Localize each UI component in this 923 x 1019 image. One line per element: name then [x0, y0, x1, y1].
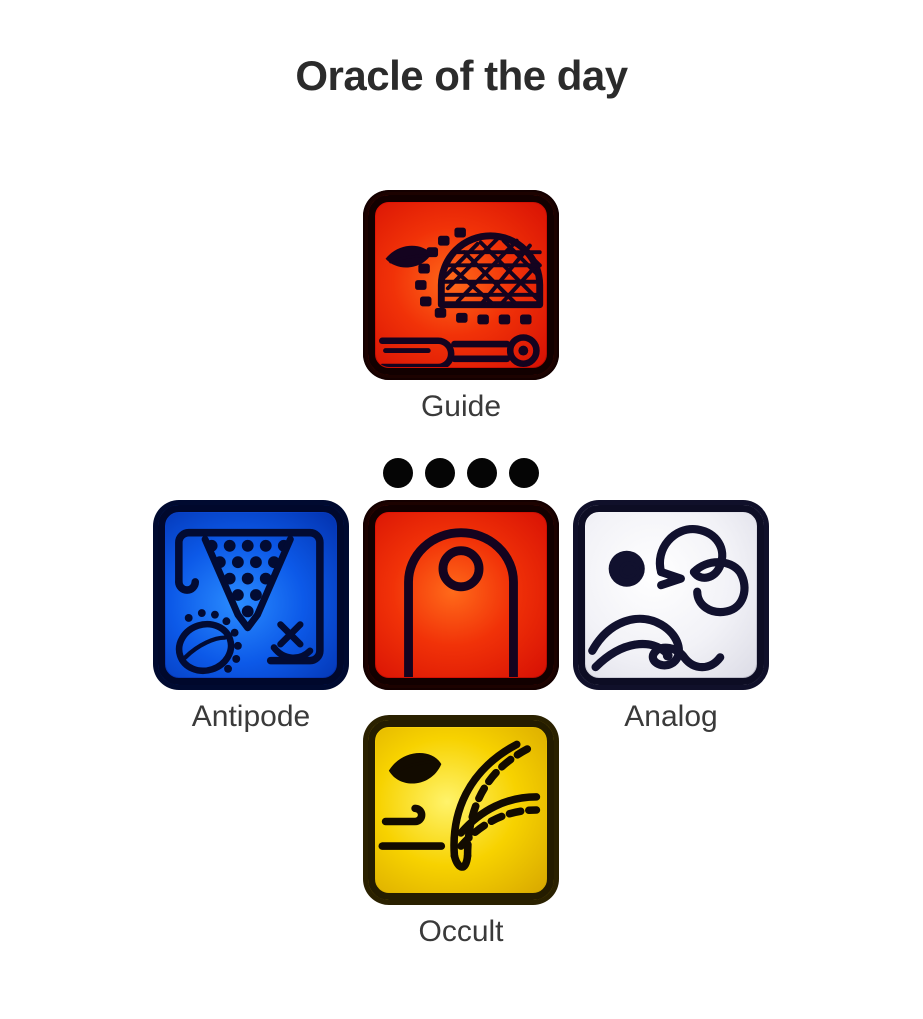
- tile-inner: [376, 513, 546, 677]
- dot-triangle-shell-glyph: [166, 513, 336, 677]
- glyph-label-occult: Occult: [356, 915, 566, 950]
- glyph-label-guide: Guide: [356, 390, 566, 425]
- glyph-label-analog: Analog: [566, 700, 776, 735]
- tone-dots: [356, 455, 566, 491]
- tone-dot: [383, 458, 413, 488]
- glyph-tile-destiny[interactable]: [363, 500, 559, 690]
- tone-dot: [467, 458, 497, 488]
- arch-with-circle-glyph: [376, 513, 546, 677]
- crosshatched-dome-glyph: [376, 203, 546, 367]
- oracle-of-the-day-panel: Oracle of the day: [0, 0, 923, 1019]
- page-title: Oracle of the day: [0, 52, 923, 100]
- tone-dot: [509, 458, 539, 488]
- oracle-position-analog[interactable]: Analog: [566, 500, 776, 735]
- eye-and-plume-glyph: [376, 728, 546, 892]
- glyph-tile-guide[interactable]: [363, 190, 559, 380]
- tile-inner: [586, 513, 756, 677]
- glyph-tile-occult[interactable]: [363, 715, 559, 905]
- glyph-tile-antipode[interactable]: [153, 500, 349, 690]
- oracle-position-antipode[interactable]: Antipode: [146, 500, 356, 735]
- glyph-tile-analog[interactable]: [573, 500, 769, 690]
- tile-inner: [376, 203, 546, 367]
- glyph-label-antipode: Antipode: [146, 700, 356, 735]
- wind-curves-glyph: [586, 513, 756, 677]
- oracle-position-guide[interactable]: Guide: [356, 190, 566, 425]
- oracle-cross-layout: Guide: [0, 190, 923, 990]
- tile-inner: [376, 728, 546, 892]
- oracle-position-destiny[interactable]: [356, 500, 566, 690]
- tile-inner: [166, 513, 336, 677]
- tone-dot: [425, 458, 455, 488]
- oracle-position-occult[interactable]: Occult: [356, 715, 566, 950]
